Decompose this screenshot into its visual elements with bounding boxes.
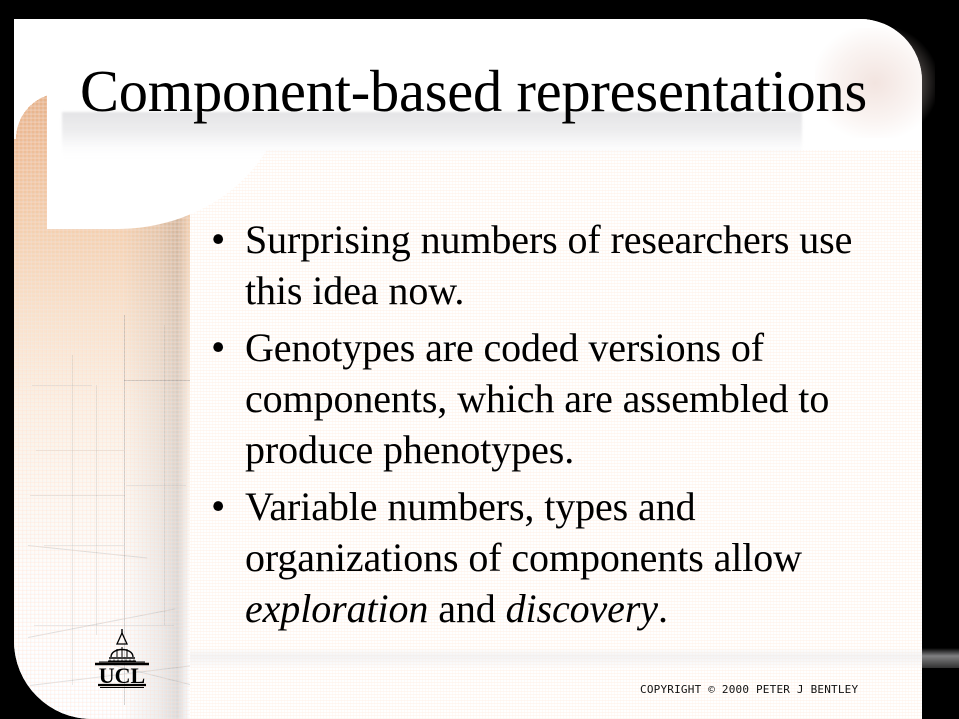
copyright-notice: COPYRIGHT © 2000 PETER J BENTLEY	[640, 683, 858, 696]
bullet-item-3: • Variable numbers, types and organizati…	[205, 481, 895, 634]
ucl-logo: UCL	[86, 628, 158, 690]
bullet-item-1: • Surprising numbers of researchers use …	[205, 214, 895, 316]
bullet-marker-icon: •	[205, 214, 245, 265]
bullet-marker-icon: •	[205, 481, 245, 532]
wireframe-line-horizontal-f	[126, 485, 186, 486]
wireframe-line-horizontal-c	[36, 450, 124, 451]
slide-canvas: Component-based representations • Surpri…	[0, 0, 959, 719]
wireframe-line-vertical-inner	[96, 385, 97, 635]
wireframe-line-horizontal-d	[30, 495, 125, 496]
slide-title: Component-based representations	[80, 60, 902, 122]
ucl-logo-icon: UCL	[86, 628, 158, 690]
slide-body-content: • Surprising numbers of researchers use …	[205, 214, 895, 640]
bullet-text-2: Genotypes are coded versions of componen…	[245, 322, 895, 475]
wireframe-line-horizontal-e	[44, 545, 124, 546]
wireframe-line-vertical-left	[72, 355, 73, 685]
wireframe-line-vertical-right	[164, 325, 165, 625]
wireframe-line-horizontal-g	[34, 625, 174, 626]
bullet-item-2: • Genotypes are coded versions of compon…	[205, 322, 895, 475]
bullet-text-3: Variable numbers, types and organization…	[245, 481, 895, 634]
bullet-text-1: Surprising numbers of researchers use th…	[245, 214, 895, 316]
title-banner-notch	[14, 19, 62, 139]
bullet-marker-icon: •	[205, 322, 245, 373]
wireframe-line-horizontal-b	[32, 385, 92, 386]
wireframe-line-horizontal-a	[124, 380, 190, 381]
